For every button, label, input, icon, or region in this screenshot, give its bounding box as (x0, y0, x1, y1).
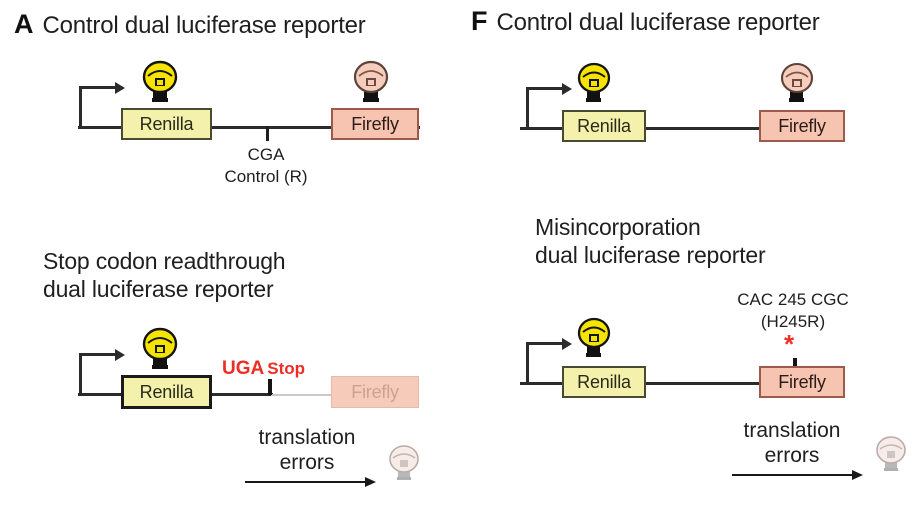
gene-box-firefly-faded: Firefly (331, 376, 419, 408)
gene-label-renilla: Renilla (140, 114, 194, 135)
translation-errors-arrow-icon (732, 470, 864, 480)
translation-errors-line1: translation (237, 425, 377, 450)
promoter-arrow-icon (79, 86, 123, 130)
panel-a-title: Control dual luciferase reporter (43, 12, 366, 40)
yellow-lightbulb-icon (138, 323, 182, 371)
yellow-lightbulb-icon (138, 56, 182, 104)
gene-box-renilla: Renilla (121, 108, 212, 140)
gene-box-renilla: Renilla (562, 110, 646, 142)
translation-errors-line1: translation (722, 418, 862, 443)
dna-backbone-faded (271, 394, 337, 396)
gene-box-firefly: Firefly (331, 108, 419, 140)
gene-label-renilla: Renilla (577, 116, 631, 137)
gene-label-renilla: Renilla (140, 382, 194, 403)
gene-box-firefly: Firefly (759, 110, 845, 142)
misincorporation-title-line1: Misincorporation (535, 213, 701, 241)
panel-letter-f: F (471, 6, 488, 37)
codon-control-label: Control (R) (206, 166, 326, 187)
translation-errors-line2: errors (237, 450, 377, 475)
stop-codon-word: Stop (267, 359, 305, 378)
dim-lightbulb-icon (385, 441, 423, 483)
gene-label-renilla: Renilla (577, 372, 631, 393)
translation-errors-arrow-icon (245, 477, 377, 487)
readthrough-title-line2: dual luciferase reporter (43, 275, 273, 303)
gene-label-firefly: Firefly (351, 114, 399, 135)
mutation-label-line1: CAC 245 CGC (698, 289, 888, 310)
panel-letter-a: A (14, 9, 34, 40)
promoter-arrow-icon (79, 353, 123, 397)
readthrough-title-line1: Stop codon readthrough (43, 247, 285, 275)
translation-errors-line2: errors (722, 443, 862, 468)
misincorporation-title-line2: dual luciferase reporter (535, 241, 765, 269)
gene-box-firefly: Firefly (759, 366, 845, 398)
stop-codon-uga: UGA (222, 358, 264, 379)
panel-a-header: A Control dual luciferase reporter (14, 9, 366, 40)
mutation-asterisk-marker: * (784, 331, 794, 357)
codon-label-cga: CGA (206, 144, 326, 165)
yellow-lightbulb-icon (573, 313, 615, 359)
panel-f-title: Control dual luciferase reporter (497, 9, 820, 37)
stop-codon-label: UGAStop (222, 358, 305, 379)
stop-codon-tick-mark (268, 379, 272, 395)
dim-lightbulb-icon (872, 432, 910, 474)
gene-label-firefly: Firefly (778, 116, 826, 137)
codon-tick-mark (266, 126, 269, 141)
gene-box-renilla: Renilla (562, 366, 646, 398)
gene-box-renilla: Renilla (121, 375, 212, 409)
panel-f: F Control dual luciferase reporter (460, 0, 920, 508)
yellow-lightbulb-icon (573, 58, 615, 104)
panel-a: A Control dual luciferase reporter (0, 0, 460, 508)
gene-label-firefly: Firefly (351, 382, 399, 403)
gene-label-firefly: Firefly (778, 372, 826, 393)
pink-lightbulb-icon (349, 56, 393, 104)
pink-lightbulb-icon (776, 58, 818, 104)
panel-f-header: F Control dual luciferase reporter (471, 6, 820, 37)
